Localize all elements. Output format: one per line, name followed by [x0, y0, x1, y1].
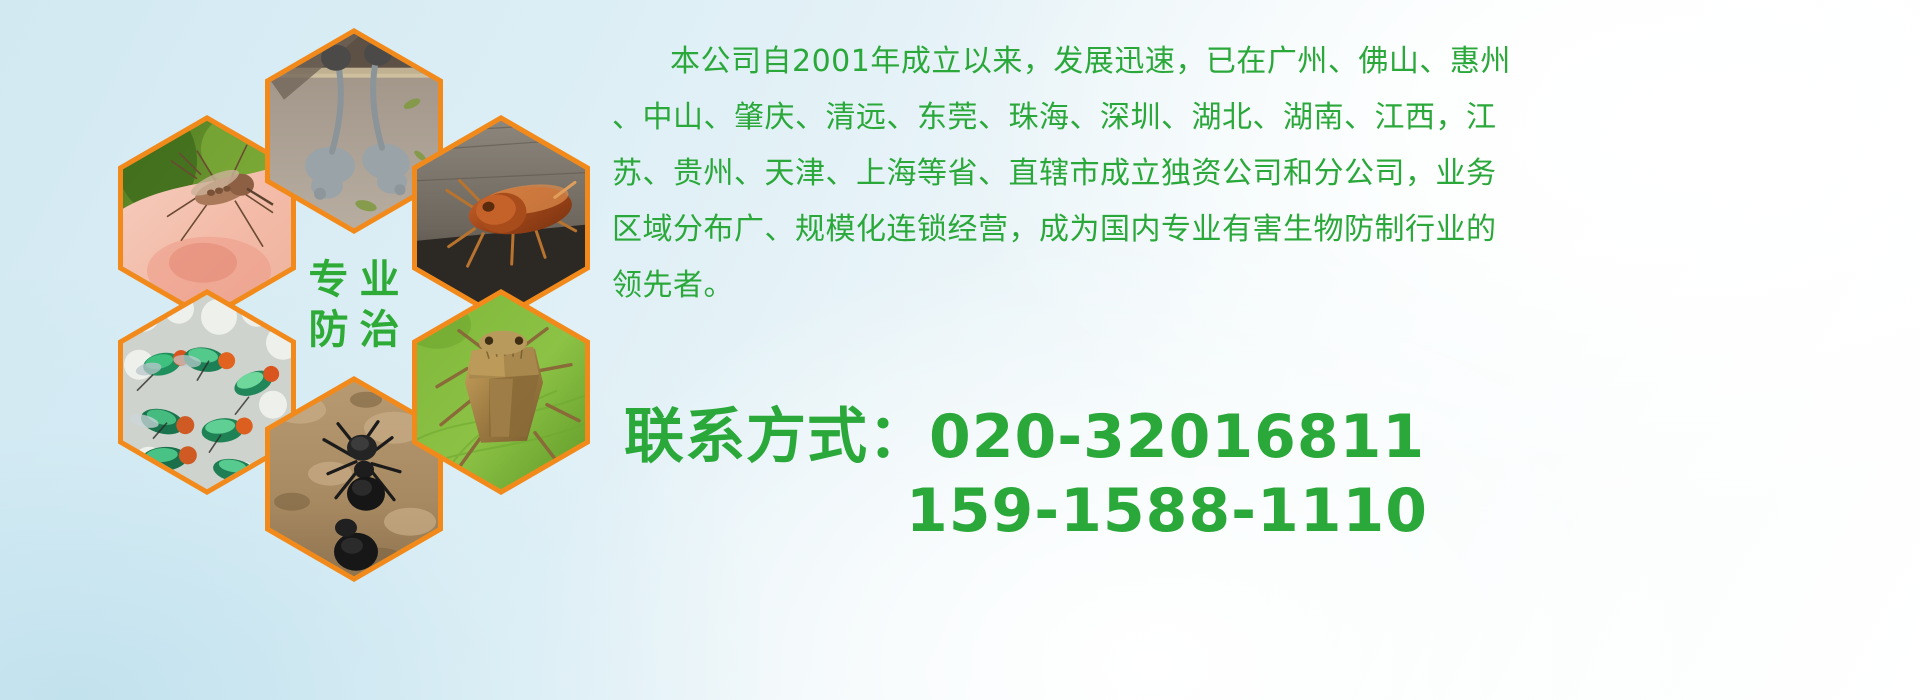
hex-image-stinkbug	[417, 295, 585, 489]
center-label-line1: 专业	[298, 260, 411, 300]
description-line-5: 领先者。	[612, 258, 1902, 314]
description-line-4: 区域分布广、规模化连锁经营，成为国内专业有害生物防制行业的	[612, 202, 1902, 258]
description-line-1: 本公司自2001年成立以来，发展迅速，已在广州、佛山、惠州	[612, 34, 1902, 90]
company-description: 本公司自2001年成立以来，发展迅速，已在广州、佛山、惠州 、中山、肇庆、清远、…	[612, 34, 1902, 314]
description-line-3: 苏、贵州、天津、上海等省、直辖市成立独资公司和分公司，业务	[612, 146, 1902, 202]
contact-phone-secondary[interactable]: 159-1588-1110	[624, 474, 1874, 548]
promo-banner: 专业 防治	[0, 0, 1920, 700]
contact-block: 联系方式：020-32016811 159-1588-1110	[624, 400, 1874, 548]
description-line-2: 、中山、肇庆、清远、东莞、珠海、深圳、湖北、湖南、江西，江	[612, 90, 1902, 146]
honeycomb-gallery: 专业 防治	[78, 0, 598, 580]
contact-phone-primary[interactable]: 联系方式：020-32016811	[624, 400, 1874, 474]
center-label-line2: 防治	[298, 310, 411, 350]
